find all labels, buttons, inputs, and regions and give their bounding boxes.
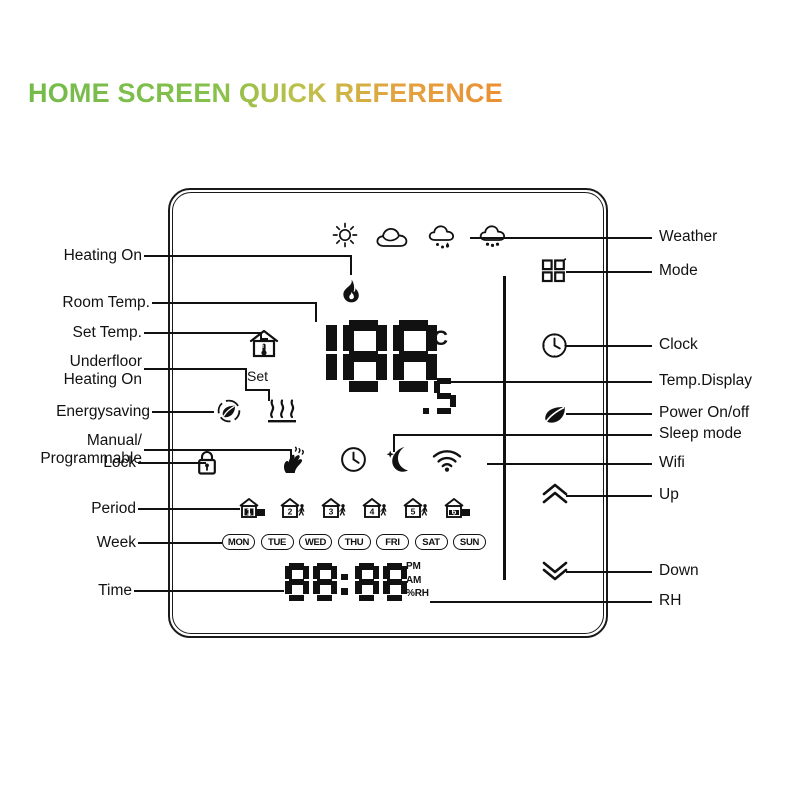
leader-set-temp [144,332,262,334]
leader-room-temp-v [315,302,317,322]
seven-segment-digit [313,563,337,601]
leader-heating-on-v [350,255,352,275]
week-badge-sat: SAT [415,534,448,550]
leader-down [566,571,652,573]
leader-sleep [393,434,652,436]
svg-text:4: 4 [370,506,375,516]
week-badge-mon: MON [222,534,255,550]
label-sleep: Sleep mode [659,425,742,442]
segment-d [317,595,332,602]
clock-icon [340,446,367,473]
segment-b [303,566,310,579]
leader-time [134,590,284,592]
seven-segment-digit [343,320,387,392]
cloud-icon [375,226,409,248]
seven-segment-digit [293,320,337,392]
segment-d [387,595,402,602]
segment-g [349,351,378,362]
week-badge-tue: TUE [261,534,294,550]
leader-temp-display [440,381,652,383]
underfloor-heat-waves-icon [265,396,299,426]
segment-g [399,351,428,362]
label-mode: Mode [659,262,698,279]
svg-text:3: 3 [329,506,334,516]
label-temp-display: Temp.Display [659,372,752,389]
svg-text:1: 1 [247,506,252,516]
segment-d [349,381,378,392]
sun-icon [332,222,358,248]
leader-week [138,542,222,544]
label-room-temp: Room Temp. [0,294,150,311]
house-period-2-icon: 2 [279,496,313,522]
chevron-down-icon[interactable] [541,560,569,582]
house-period-6-icon: 6 [443,496,477,522]
segment-b [373,566,380,579]
week-badge-wed: WED [299,534,332,550]
svg-text:5: 5 [411,506,416,516]
label-down: Down [659,562,699,579]
label-clock: Clock [659,336,698,353]
segment-f [434,381,440,394]
label-wifi: Wifi [659,454,685,471]
seven-segment-digit [383,563,407,601]
label-lock: Lock [0,454,136,471]
leader-up [566,495,652,497]
segment-g [317,579,332,586]
label-set-temp: Set Temp. [0,324,142,341]
indicator-pm: PM [406,560,429,574]
label-energysaving: Energysaving [0,403,150,420]
seven-segment-digit [434,378,456,414]
segment-b [376,325,387,351]
label-underfloor: Underfloor [0,353,142,370]
label-rh: RH [659,592,681,609]
segment-c [326,354,337,380]
leaf-power-icon[interactable] [542,402,568,426]
leader-underfloor [144,368,247,370]
week-badge-fri: FRI [376,534,409,550]
indicator-am: AM [406,574,429,588]
seven-segment-digit [355,563,379,601]
segment-g [437,393,451,399]
leader-room-temp [152,302,317,304]
time-indicators: PM AM %RH [406,560,429,601]
label-weather: Weather [659,228,717,245]
seven-segment-digit [341,563,351,601]
segment-d [437,408,451,414]
segment-f [355,566,362,579]
snow-cloud-icon [478,224,508,252]
segment-d [359,595,374,602]
label-time: Time [0,582,132,599]
chevron-up-icon[interactable] [541,483,569,505]
segment-d [289,595,304,602]
leader-wifi [487,463,652,465]
period-icons: 123456 [238,496,484,524]
house-period-4-icon: 4 [361,496,395,522]
segment-f [313,566,320,579]
temperature-unit: °C [425,327,448,351]
grid-mode-icon[interactable] [541,257,567,283]
leader-energysaving [152,411,214,413]
segment-b [326,325,337,351]
segment-f [393,325,404,351]
hand-heat-icon [281,447,307,475]
house-period-1-icon: 1 [238,496,272,522]
time-display [285,563,411,601]
label-manual: Manual/ [0,432,142,449]
label-up: Up [659,486,679,503]
eco-leaf-circle-icon [216,398,242,424]
leader-mode [566,271,652,273]
leader-clock [566,345,652,347]
leader-power [566,413,652,415]
diagram-canvas: HOME SCREEN QUICK REFERENCE Heating On R… [0,0,800,800]
label-power: Power On/off [659,404,749,421]
clock-button-icon[interactable] [541,332,568,359]
week-badge-sun: SUN [453,534,486,550]
flame-icon [341,279,361,303]
week-badges: MONTUEWEDTHUFRISATSUN [222,534,490,553]
house-period-3-icon: 3 [320,496,354,522]
page-title: HOME SCREEN QUICK REFERENCE [28,78,503,109]
leader-underfloor-2 [245,389,270,391]
segment-f [343,325,354,351]
seven-segment-digit [423,378,432,414]
house-thermometer-icon [249,328,279,360]
temperature-fraction [423,378,458,414]
seven-segment-digit [285,563,309,601]
temperature-display [293,320,443,392]
lock-icon [196,450,218,476]
leader-manual [144,449,292,451]
segment-b [331,566,338,579]
segment-f [383,566,390,579]
rain-cloud-icon [427,224,457,252]
label-week: Week [0,534,136,551]
segment-g [359,579,374,586]
label-period: Period [0,500,136,517]
week-badge-thu: THU [338,534,371,550]
wifi-icon [431,447,463,473]
leader-heating-on [144,255,352,257]
panel-divider [503,276,506,580]
moon-star-icon [383,444,413,474]
svg-text:2: 2 [288,506,293,516]
label-underfloor-2: Heating On [0,371,142,388]
segment-g [387,579,402,586]
indicator-rh: %RH [406,587,429,601]
segment-g [289,579,304,586]
set-label: Set [247,368,268,384]
svg-text:6: 6 [452,506,457,516]
leader-period [138,508,240,510]
label-heating-on: Heating On [0,247,142,264]
house-period-5-icon: 5 [402,496,436,522]
leader-rh [430,601,652,603]
segment-f [285,566,292,579]
